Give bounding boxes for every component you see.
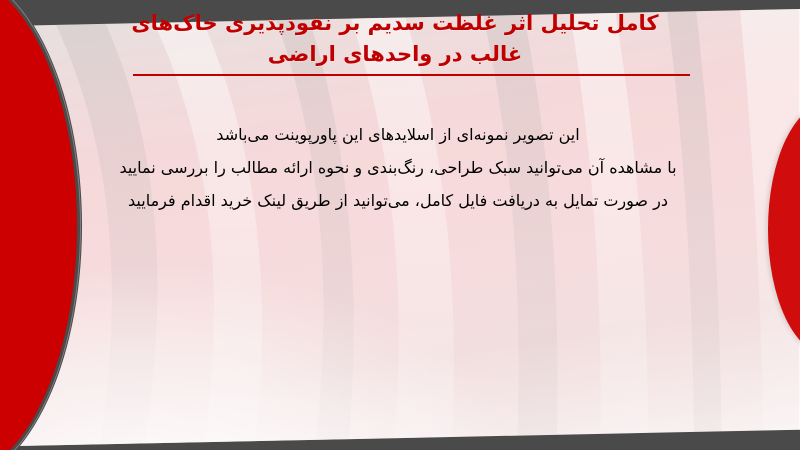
slide-title: کامل تحلیل اثر غلظت سدیم بر نفوذپذیری خا… bbox=[95, 8, 695, 70]
slide-body-text: این تصویر نمونه‌ای از اسلایدهای این پاور… bbox=[68, 118, 728, 217]
slide-body-line-2: با مشاهده آن می‌توانید سبک طراحی، رنگ‌بن… bbox=[68, 151, 728, 184]
slide-body-line-1: این تصویر نمونه‌ای از اسلایدهای این پاور… bbox=[68, 118, 728, 151]
slide-title-line-2: غالب در واحدهای اراضی bbox=[95, 39, 695, 70]
presentation-slide: کامل تحلیل اثر غلظت سدیم بر نفوذپذیری خا… bbox=[0, 0, 800, 450]
slide-title-line-1: کامل تحلیل اثر غلظت سدیم بر نفوذپذیری خا… bbox=[95, 8, 695, 39]
title-underline-rule bbox=[133, 74, 690, 76]
slide-body-line-3: در صورت تمایل به دریافت فایل کامل، می‌تو… bbox=[68, 184, 728, 217]
